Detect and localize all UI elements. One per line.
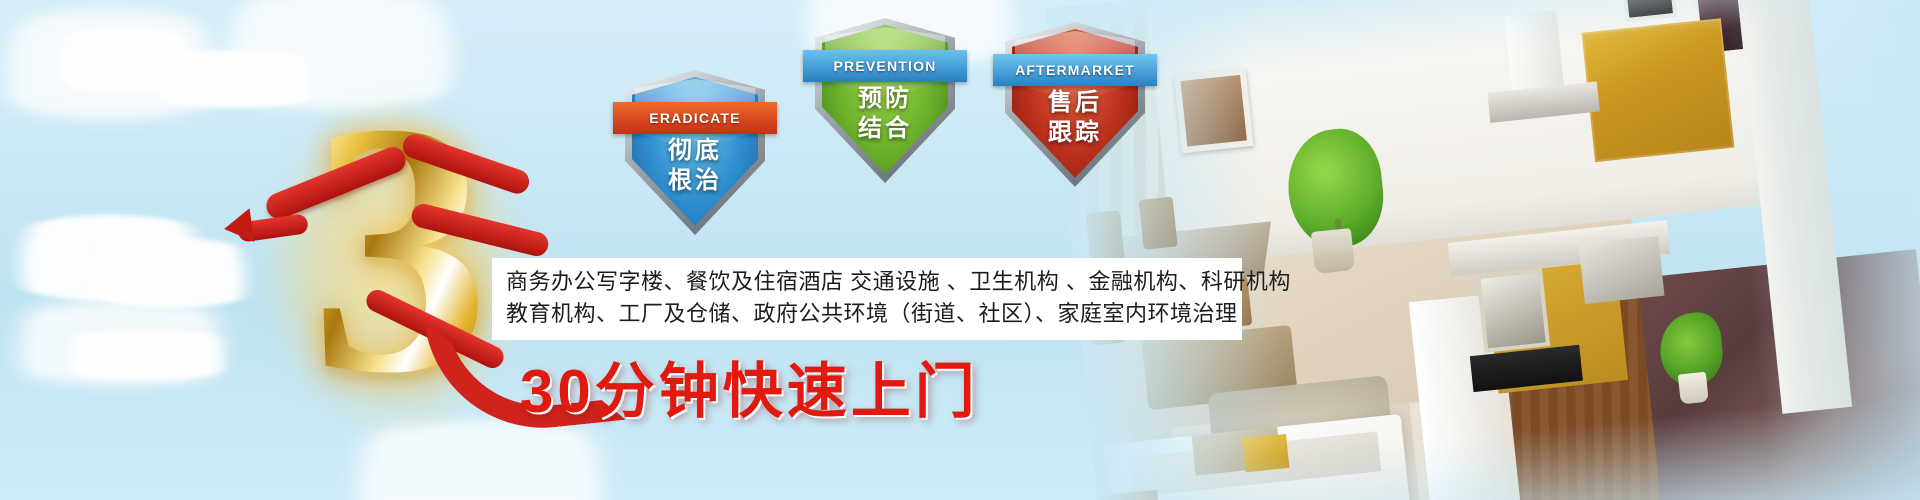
ribbon-arrow-icon xyxy=(222,208,254,246)
cloud-shape xyxy=(60,238,280,308)
badge-chinese-line2: 跟踪 xyxy=(1005,118,1145,148)
service-scope-line-1: 商务办公写字楼、餐饮及住宿酒店 交通设施 、卫生机构 、金融机构、科研机构 xyxy=(506,266,1228,298)
badge-chinese-line1: 售后 xyxy=(1005,88,1145,118)
badge-chinese-label: 彻底 根治 xyxy=(625,136,765,196)
badge-banner-eradicate: ERADICATE xyxy=(613,102,777,134)
badge-eradicate: ERADICATE 彻底 根治 xyxy=(625,70,765,235)
promotional-banner: 3 ERADICATE 彻底 根治 PREVENTION 预防 结合 xyxy=(0,0,1920,500)
badge-chinese-line2: 根治 xyxy=(625,166,765,196)
badge-chinese-label: 预防 结合 xyxy=(815,84,955,144)
oven xyxy=(1476,268,1550,352)
headline-text: 30分钟快速上门 xyxy=(520,358,979,426)
badge-english-label: AFTERMARKET xyxy=(1015,62,1135,78)
apartment-interior-photo xyxy=(1046,0,1920,500)
badge-english-label: ERADICATE xyxy=(649,110,740,126)
kitchen-sink xyxy=(1579,236,1665,304)
badge-aftermarket: AFTERMARKET 售后 跟踪 xyxy=(1005,22,1145,187)
cloud-shape xyxy=(30,330,260,380)
badge-prevention: PREVENTION 预防 结合 xyxy=(815,18,955,183)
badge-banner-aftermarket: AFTERMARKET xyxy=(993,54,1157,86)
badge-chinese-line1: 预防 xyxy=(815,84,955,114)
badge-english-label: PREVENTION xyxy=(833,58,936,74)
service-scope-card: 商务办公写字楼、餐饮及住宿酒店 交通设施 、卫生机构 、金融机构、科研机构 教育… xyxy=(492,258,1242,340)
service-scope-line-2: 教育机构、工厂及仓储、政府公共环境（街道、社区）、家庭室内环境治理 xyxy=(506,298,1228,330)
badge-chinese-label: 售后 跟踪 xyxy=(1005,88,1145,148)
badge-chinese-line1: 彻底 xyxy=(625,136,765,166)
badge-banner-prevention: PREVENTION xyxy=(803,50,967,82)
badge-chinese-line2: 结合 xyxy=(815,114,955,144)
